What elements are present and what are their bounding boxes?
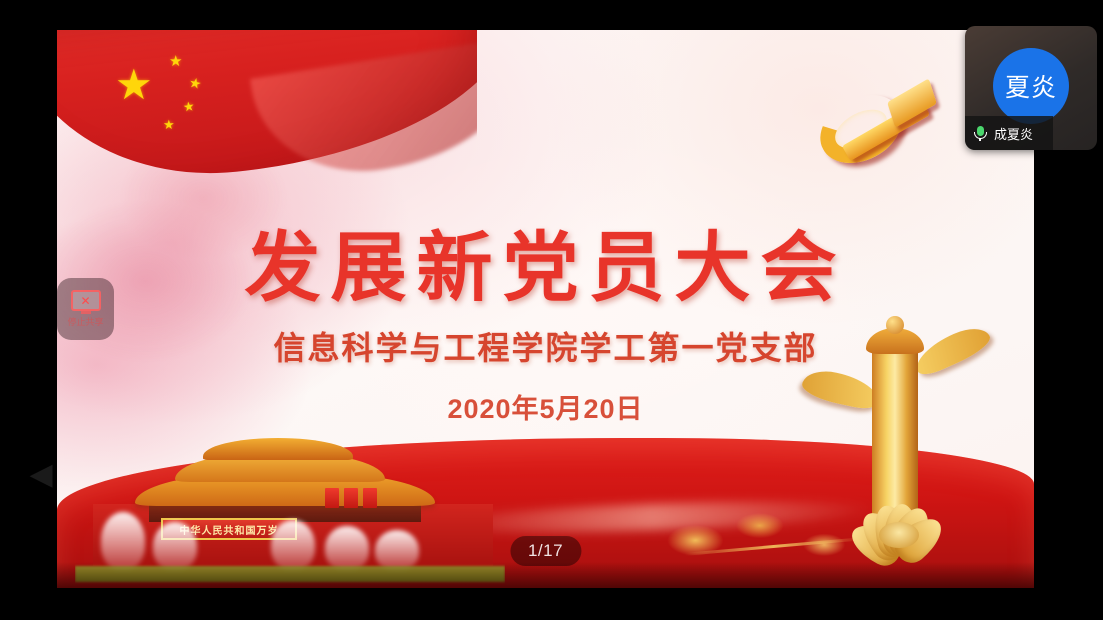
flag-star-small-4: ★ <box>163 118 175 131</box>
fountain <box>101 512 145 570</box>
huabiao-column-graphic <box>808 312 998 562</box>
lotus-core <box>879 522 919 548</box>
tiananmen-flag-row <box>325 488 377 508</box>
fountain <box>325 526 369 570</box>
fountain <box>375 530 419 570</box>
close-icon: ✕ <box>80 295 90 307</box>
participant-name-strip: 成夏炎 <box>965 116 1053 150</box>
participant-video-tile[interactable]: 夏炎 成夏炎 <box>965 26 1097 150</box>
huabiao-wing-left <box>800 366 883 412</box>
previous-slide-arrow-icon[interactable]: ◀ <box>28 458 54 492</box>
fountain <box>271 520 315 570</box>
slide-main-title: 发展新党员大会 <box>57 226 1034 311</box>
flag-star-small-1: ★ <box>169 54 182 69</box>
presentation-slide[interactable]: ★ ★ ★ ★ ★ 发展新党员大会 信息科学与工程学院学工第一党支部 2020年… <box>57 30 1034 588</box>
participant-name: 成夏炎 <box>994 124 1033 143</box>
huabiao-finial <box>886 316 904 334</box>
flag-star-small-3: ★ <box>182 99 195 113</box>
stop-share-label: 停止共享 <box>67 315 103 328</box>
fountain <box>153 522 197 570</box>
tiananmen-ridge <box>203 438 353 460</box>
screen-share-window: ★ ★ ★ ★ ★ 发展新党员大会 信息科学与工程学院学工第一党支部 2020年… <box>0 0 1103 620</box>
chinese-flag-graphic: ★ ★ ★ ★ ★ <box>57 30 477 180</box>
page-indicator: 1/17 <box>510 536 581 566</box>
lotus-base <box>844 490 954 556</box>
tiananmen-graphic: 中华人民共和国万岁 <box>75 413 505 588</box>
mini-flag <box>363 488 377 508</box>
lawn-strip <box>75 566 505 582</box>
mini-flag <box>325 488 339 508</box>
avatar: 夏炎 <box>993 48 1069 124</box>
party-emblem-icon <box>800 64 950 174</box>
stop-share-button[interactable]: ✕ 停止共享 <box>57 278 114 340</box>
flag-star-small-2: ★ <box>188 75 203 91</box>
mini-flag <box>344 488 358 508</box>
stop-share-icon: ✕ <box>71 290 101 311</box>
flag-star-large: ★ <box>115 64 153 106</box>
microphone-icon <box>972 125 988 141</box>
